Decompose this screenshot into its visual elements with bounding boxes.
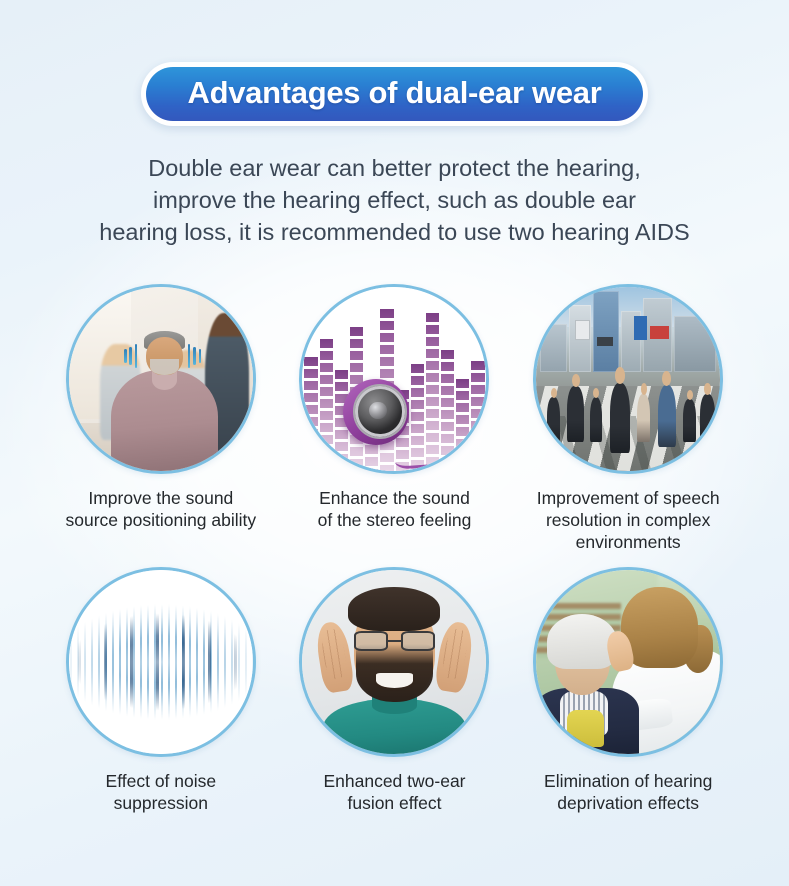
caption-line: fusion effect [323, 792, 465, 814]
equalizer-speaker-icon [302, 287, 486, 471]
man-cupping-ears-icon [302, 570, 486, 754]
feature-image-circle [299, 284, 489, 474]
caption-line: Enhanced two-ear [323, 770, 465, 792]
feature-card[interactable]: Effect of noise suppression [44, 567, 278, 814]
caption-line: Effect of noise [106, 770, 217, 792]
caption-line: source positioning ability [65, 509, 256, 531]
feature-image-circle [533, 284, 723, 474]
caption-line: deprivation effects [544, 792, 712, 814]
page-header: Advantages of dual-ear wear Double ear w… [0, 0, 789, 248]
speaker-icon [343, 379, 409, 445]
noise-waveform-icon [69, 570, 253, 754]
feature-caption: Improvement of speech resolution in comp… [537, 487, 720, 553]
subtitle-line-3: hearing loss, it is recommended to use t… [24, 216, 766, 248]
caption-line: Elimination of hearing [544, 770, 712, 792]
caption-line: resolution in complex [537, 509, 720, 531]
feature-card[interactable]: Elimination of hearing deprivation effec… [511, 567, 745, 814]
caption-line: Improvement of speech [537, 487, 720, 509]
feature-card[interactable]: Enhance the sound of the stereo feeling [278, 284, 512, 553]
caregiver-elderly-listening-icon [536, 570, 720, 754]
feature-caption: Improve the sound source positioning abi… [65, 487, 256, 531]
feature-image-circle [299, 567, 489, 757]
caption-line: Improve the sound [65, 487, 256, 509]
feature-caption: Effect of noise suppression [106, 770, 217, 814]
feature-image-circle [533, 567, 723, 757]
caption-line: of the stereo feeling [318, 509, 472, 531]
feature-caption: Enhance the sound of the stereo feeling [318, 487, 472, 531]
subtitle-line-1: Double ear wear can better protect the h… [24, 152, 766, 184]
title-banner: Advantages of dual-ear wear [141, 62, 649, 126]
caption-line: suppression [106, 792, 217, 814]
subtitle-line-2: improve the hearing effect, such as doub… [24, 184, 766, 216]
feature-caption: Enhanced two-ear fusion effect [323, 770, 465, 814]
page-title: Advantages of dual-ear wear [188, 77, 602, 108]
feature-grid: Improve the sound source positioning abi… [0, 284, 789, 814]
feature-image-circle [66, 284, 256, 474]
feature-card[interactable]: Enhanced two-ear fusion effect [278, 567, 512, 814]
page-subtitle: Double ear wear can better protect the h… [24, 152, 766, 248]
city-crosswalk-crowd-icon [536, 287, 720, 471]
feature-card[interactable]: Improvement of speech resolution in comp… [511, 284, 745, 553]
title-banner-inner: Advantages of dual-ear wear [146, 67, 644, 121]
caption-line: Enhance the sound [318, 487, 472, 509]
feature-image-circle [66, 567, 256, 757]
caption-line: environments [537, 531, 720, 553]
feature-caption: Elimination of hearing deprivation effec… [544, 770, 712, 814]
feature-card[interactable]: Improve the sound source positioning abi… [44, 284, 278, 553]
office-sound-source-icon [69, 287, 253, 471]
